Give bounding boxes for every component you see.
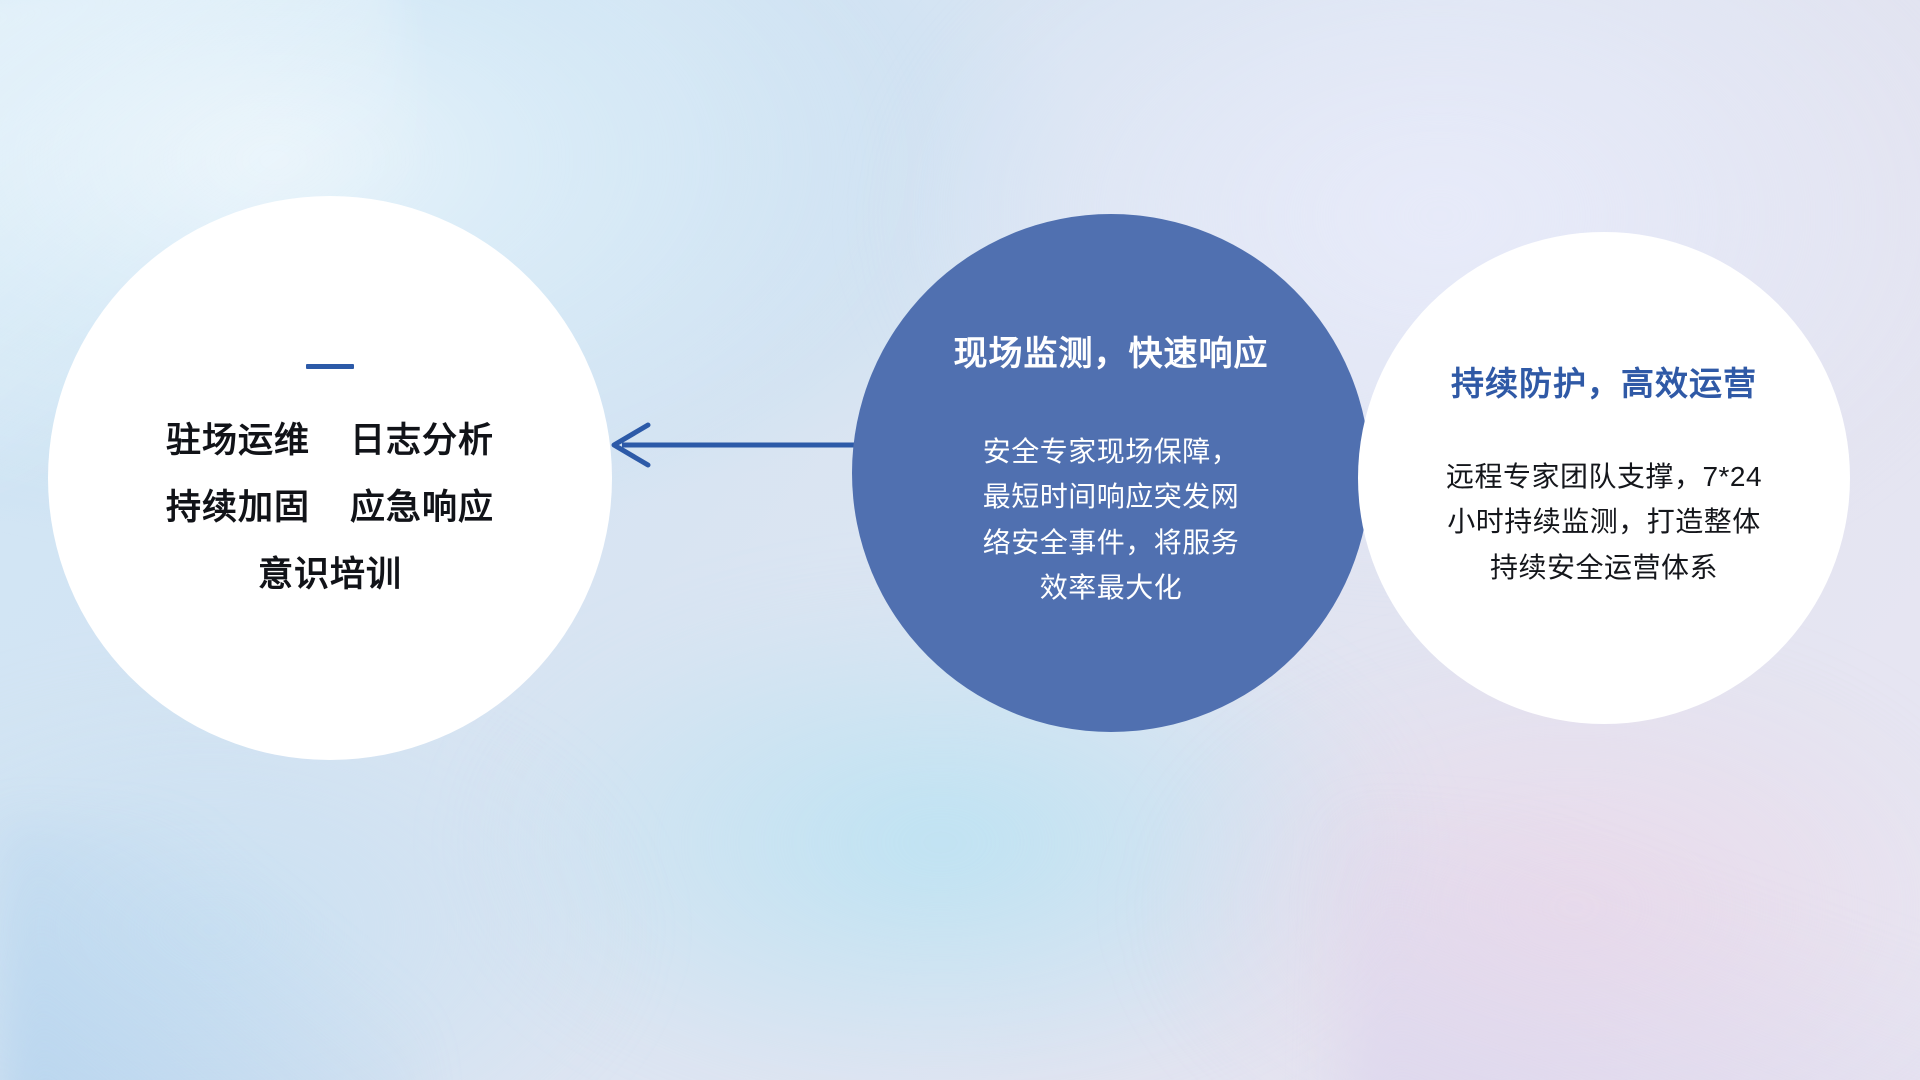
card-body-onsite: 安全专家现场保障， 最短时间响应突发网 络安全事件，将服务 效率最大化 (946, 429, 1276, 610)
body-line: 络安全事件，将服务 (946, 520, 1276, 565)
card-title-onsite: 现场监测，快速响应 (954, 336, 1269, 373)
body-line: 持续安全运营体系 (1414, 545, 1794, 590)
body-line: 远程专家团队支撑，7*24 (1414, 454, 1794, 499)
keyword-item: 意识培训 (258, 557, 402, 592)
body-line: 效率最大化 (946, 565, 1276, 610)
keyword-item: 持续加固 (166, 490, 310, 525)
title-divider (306, 364, 354, 369)
card-body-protection: 远程专家团队支撑，7*24 小时持续监测，打造整体 持续安全运营体系 (1414, 454, 1794, 590)
keyword-row-3: 意识培训 (258, 557, 402, 592)
service-circle-onsite-monitoring[interactable]: 现场监测，快速响应 安全专家现场保障， 最短时间响应突发网 络安全事件，将服务 … (852, 214, 1370, 732)
body-line: 小时持续监测，打造整体 (1414, 499, 1794, 544)
background-streak-lower-right (1344, 821, 1920, 1080)
keyword-item: 应急响应 (350, 490, 494, 525)
background-streak-lower-left (0, 821, 422, 1080)
service-circle-continuous-protection[interactable]: 持续防护，高效运营 远程专家团队支撑，7*24 小时持续监测，打造整体 持续安全… (1358, 232, 1850, 724)
keyword-row-2: 持续加固 应急响应 (166, 490, 494, 525)
keyword-item: 驻场运维 (166, 423, 310, 458)
capability-circle-left[interactable]: 驻场运维 日志分析 持续加固 应急响应 意识培训 (48, 196, 612, 760)
keyword-item: 日志分析 (350, 423, 494, 458)
slide-canvas: 驻场运维 日志分析 持续加固 应急响应 意识培训 现场监测，快速响应 安全专家现… (0, 0, 1920, 1080)
card-title-protection: 持续防护，高效运营 (1451, 366, 1757, 402)
body-line: 安全专家现场保障， (946, 429, 1276, 474)
body-line: 最短时间响应突发网 (946, 474, 1276, 519)
keyword-row-1: 驻场运维 日志分析 (166, 423, 494, 458)
